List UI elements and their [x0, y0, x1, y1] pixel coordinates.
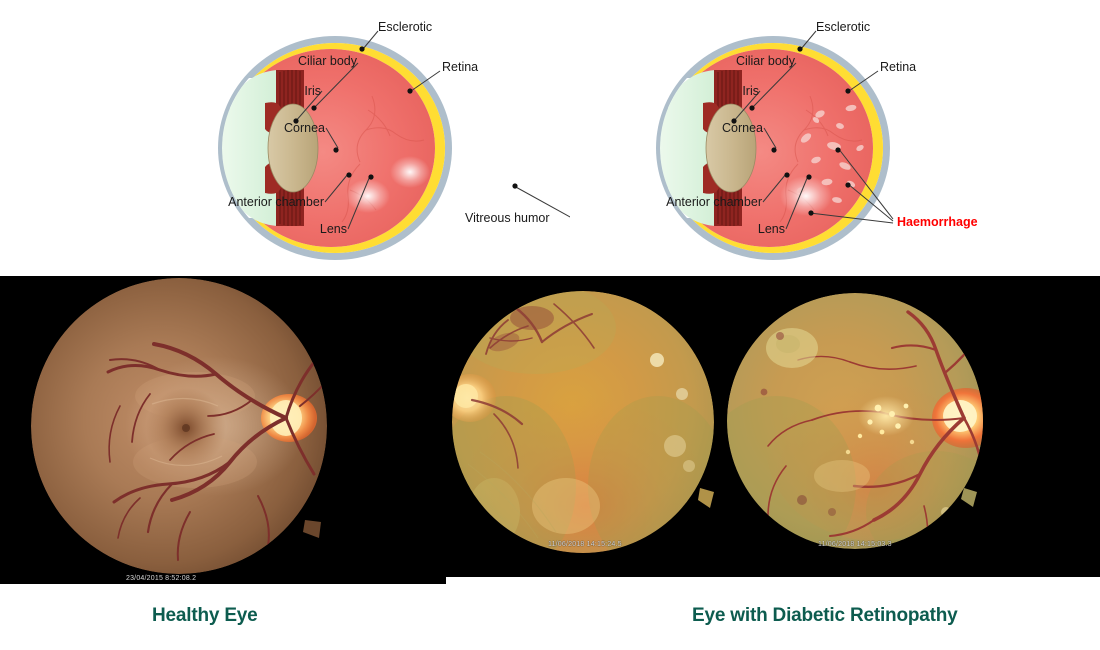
label-iris: Iris [742, 84, 759, 98]
lens [706, 104, 756, 192]
fundus-photo-band: 23/04/2015 8:52:08.2 [0, 276, 1100, 584]
healthy-eye-diagram: Esclerotic Retina Ciliar body Iris Corne… [110, 0, 570, 276]
label-anterior-chamber: Anterior chamber [228, 195, 324, 209]
lens [268, 104, 318, 192]
fundus-photos-diabetic [446, 276, 1100, 577]
figure-root: Esclerotic Retina Ciliar body Iris Corne… [0, 0, 1100, 650]
label-anterior-chamber: Anterior chamber [666, 195, 762, 209]
label-vitreous-humor: Vitreous humor [465, 211, 550, 225]
caption-diabetic-eye: Eye with Diabetic Retinopathy [692, 605, 958, 627]
label-haemorrhage: Haemorrhage [897, 215, 978, 229]
fundus-timestamp-dr-2: 11/06/2018 14:15:03.3 [818, 541, 892, 548]
diagram-band: Esclerotic Retina Ciliar body Iris Corne… [0, 0, 1100, 276]
caption-healthy-eye: Healthy Eye [152, 605, 258, 627]
label-cornea: Cornea [722, 121, 763, 135]
fundus-timestamp-healthy: 23/04/2015 8:52:08.2 [126, 575, 196, 582]
label-esclerotic: Esclerotic [378, 20, 432, 34]
fundus-panel-healthy: 23/04/2015 8:52:08.2 [0, 276, 446, 584]
fundus-photo-healthy [0, 276, 446, 584]
label-ciliar-body: Ciliar body [298, 54, 358, 68]
caption-band: Healthy Eye Eye with Diabetic Retinopath… [0, 584, 1100, 650]
label-ciliar-body: Ciliar body [736, 54, 796, 68]
fundus-timestamp-dr-1: 11/06/2018 14:15:24.5 [548, 541, 622, 548]
label-lens: Lens [320, 222, 347, 236]
diabetic-eye-diagram: Esclerotic Retina Ciliar body Iris Corne… [548, 0, 1018, 276]
label-esclerotic: Esclerotic [816, 20, 870, 34]
label-iris: Iris [304, 84, 321, 98]
fundus-panel-diabetic: 11/06/2018 14:15:24.5 11/06/2018 14:15:0… [446, 276, 1100, 577]
label-lens: Lens [758, 222, 785, 236]
label-retina: Retina [442, 60, 478, 74]
label-retina: Retina [880, 60, 916, 74]
label-cornea: Cornea [284, 121, 325, 135]
